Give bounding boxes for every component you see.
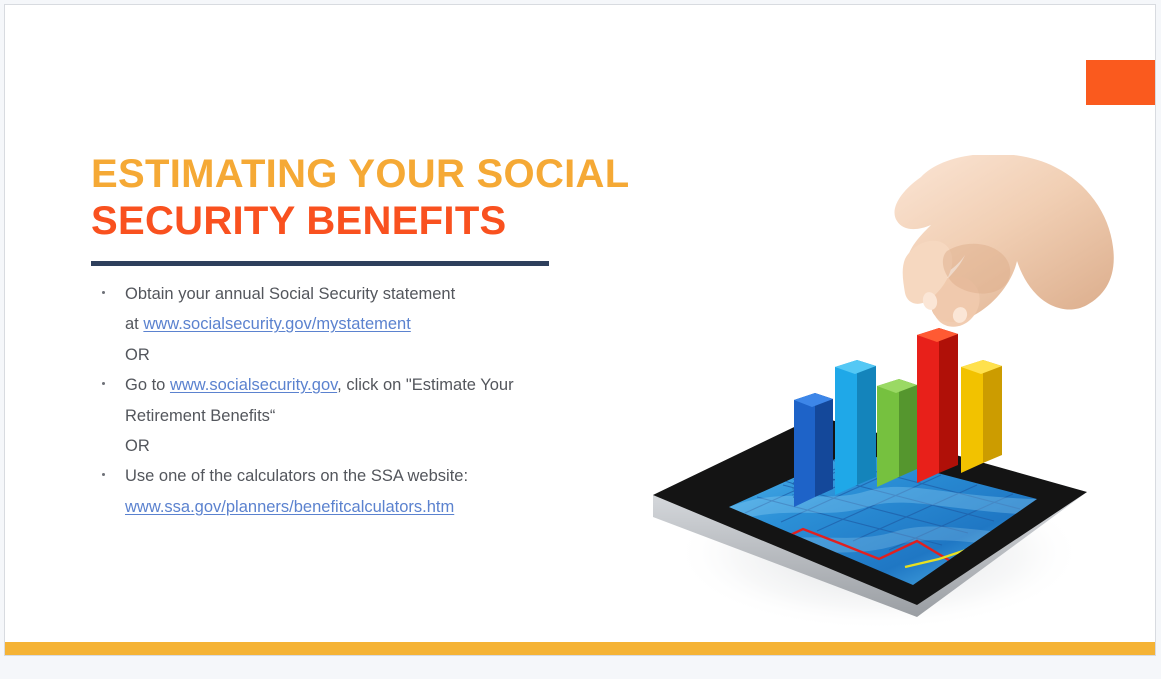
bar-4-red-lifted xyxy=(917,328,958,483)
bullet-line: OR xyxy=(125,431,611,461)
bullet-line: Go to www.socialsecurity.gov, click on "… xyxy=(125,370,611,400)
bullet-line: OR xyxy=(125,340,611,370)
bar-3-green xyxy=(877,379,917,487)
bullet-dot-icon xyxy=(102,473,105,476)
hand-illustration xyxy=(894,155,1113,327)
bullet-list: Obtain your annual Social Security state… xyxy=(91,279,611,522)
tablet-chart-illustration: 500 400 300 200 01010010101101001011 100… xyxy=(617,155,1117,635)
accent-block-decoration xyxy=(1086,60,1156,105)
list-item: Go to www.socialsecurity.gov, click on "… xyxy=(91,370,611,461)
bullet-line: Obtain your annual Social Security state… xyxy=(125,279,611,309)
bar-5-yellow xyxy=(961,360,1002,473)
bullet-line: Use one of the calculators on the SSA we… xyxy=(125,461,611,491)
bullet-line: www.ssa.gov/planners/benefitcalculators.… xyxy=(125,492,611,522)
presentation-slide: ESTIMATING YOUR SOCIAL SECURITY BENEFITS… xyxy=(4,4,1156,656)
bullet-dot-icon xyxy=(102,291,105,294)
bullet-text: , click on "Estimate Your xyxy=(337,376,513,394)
bullet-text: Go to xyxy=(125,376,170,394)
link-mystatement[interactable]: www.socialsecurity.gov/mystatement xyxy=(143,315,410,333)
bottom-accent-bar xyxy=(5,642,1156,656)
title-divider-rule xyxy=(91,261,549,266)
bullet-line: at www.socialsecurity.gov/mystatement xyxy=(125,309,611,339)
link-socialsecurity-gov[interactable]: www.socialsecurity.gov xyxy=(170,376,337,394)
bullet-line: Retirement Benefits“ xyxy=(125,401,611,431)
bar-1-blue xyxy=(794,393,833,507)
list-item: Obtain your annual Social Security state… xyxy=(91,279,611,370)
bullet-text: at xyxy=(125,315,143,333)
bullet-dot-icon xyxy=(102,382,105,385)
screenshot-canvas: ESTIMATING YOUR SOCIAL SECURITY BENEFITS… xyxy=(0,0,1161,679)
list-item: Use one of the calculators on the SSA we… xyxy=(91,461,611,522)
link-benefitcalculators[interactable]: www.ssa.gov/planners/benefitcalculators.… xyxy=(125,498,454,516)
bar-2-cyan xyxy=(835,360,876,495)
